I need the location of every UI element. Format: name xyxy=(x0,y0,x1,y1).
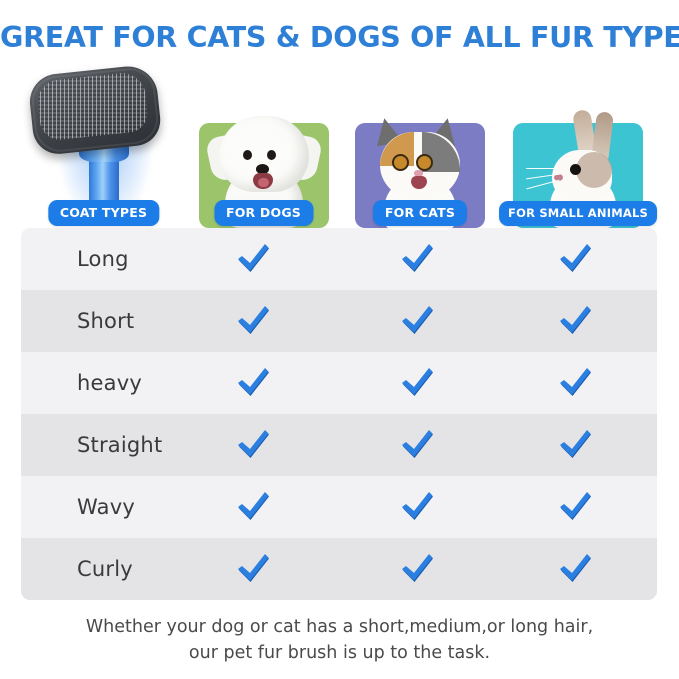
table-row: heavy xyxy=(21,352,657,414)
table-row: Straight xyxy=(21,414,657,476)
row-label-heavy: heavy xyxy=(77,371,142,395)
header-column-dogs: FOR DOGS xyxy=(186,64,341,228)
check-icon-cats xyxy=(401,243,435,275)
row-label-wavy: Wavy xyxy=(77,495,135,519)
check-icon-cats xyxy=(401,367,435,399)
check-icon-dogs xyxy=(237,305,271,337)
header-column-cats: FOR CATS xyxy=(341,64,499,228)
check-icon-cats xyxy=(401,553,435,585)
footer-line-2: our pet fur brush is up to the task. xyxy=(0,640,679,666)
row-label-long: Long xyxy=(77,247,129,271)
check-icon-small-animals xyxy=(559,243,593,275)
pill-label-cats[interactable]: FOR CATS xyxy=(373,200,467,226)
pill-label-coat-types[interactable]: COAT TYPES xyxy=(48,200,159,226)
page-title: GREAT FOR CATS & DOGS OF ALL FUR TYPES xyxy=(0,21,679,54)
row-label-curly: Curly xyxy=(77,557,133,581)
footer-line-1: Whether your dog or cat has a short,medi… xyxy=(0,614,679,640)
check-icon-small-animals xyxy=(559,553,593,585)
row-label-straight: Straight xyxy=(77,433,162,457)
check-icon-cats xyxy=(401,491,435,523)
table-row: Wavy xyxy=(21,476,657,538)
check-icon-small-animals xyxy=(559,367,593,399)
header-column-small-animals: FOR SMALL ANIMALS xyxy=(499,64,657,228)
header-columns: COAT TYPES FOR DOGS FOR CATS xyxy=(0,64,679,228)
check-icon-dogs xyxy=(237,243,271,275)
table-row: Curly xyxy=(21,538,657,600)
check-icon-dogs xyxy=(237,429,271,461)
check-icon-dogs xyxy=(237,491,271,523)
check-icon-dogs xyxy=(237,553,271,585)
coat-type-table: LongShortheavyStraightWavyCurly xyxy=(21,228,657,600)
check-icon-small-animals xyxy=(559,305,593,337)
pill-label-small-animals[interactable]: FOR SMALL ANIMALS xyxy=(499,201,657,226)
check-icon-small-animals xyxy=(559,429,593,461)
footer-caption: Whether your dog or cat has a short,medi… xyxy=(0,614,679,666)
check-icon-dogs xyxy=(237,367,271,399)
pill-label-dogs[interactable]: FOR DOGS xyxy=(214,200,313,226)
table-row: Short xyxy=(21,290,657,352)
header-column-coat-types: COAT TYPES xyxy=(21,64,186,228)
check-icon-cats xyxy=(401,429,435,461)
table-row: Long xyxy=(21,228,657,290)
check-icon-cats xyxy=(401,305,435,337)
check-icon-small-animals xyxy=(559,491,593,523)
row-label-short: Short xyxy=(77,309,134,333)
